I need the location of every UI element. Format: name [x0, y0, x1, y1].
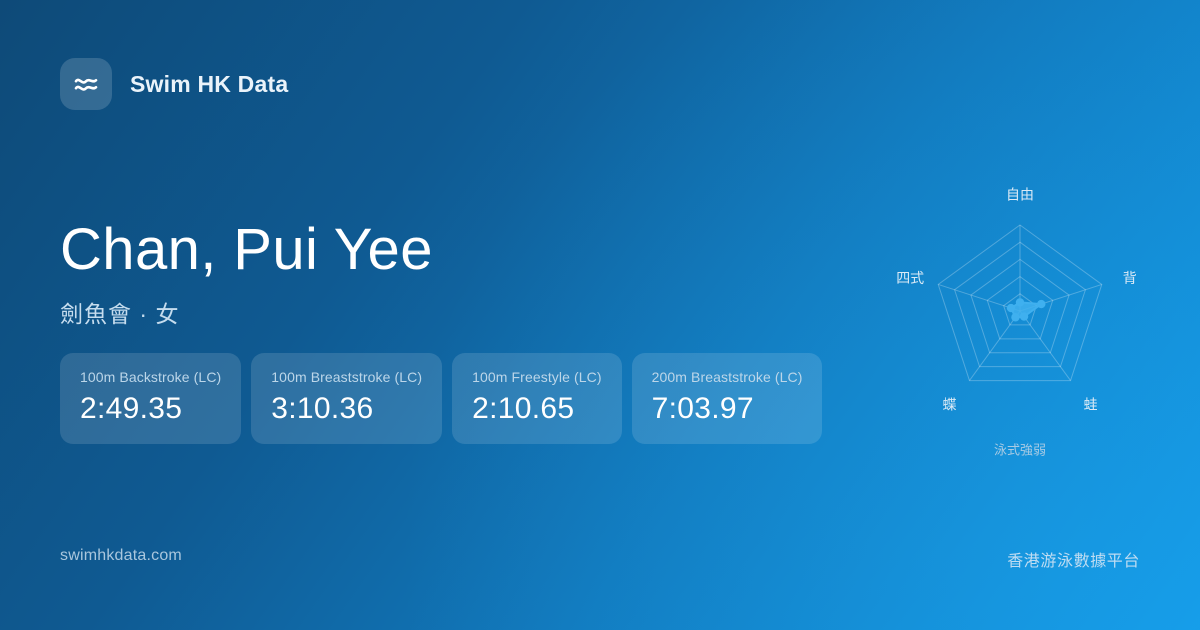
- radar-spoke: [1020, 311, 1071, 381]
- event-card: 100m Freestyle(LC) 2:10.65: [452, 353, 622, 444]
- event-card-time: 2:10.65: [472, 392, 602, 426]
- radar-data-point: [1011, 313, 1019, 321]
- radar-axis-labels: 自由背蛙蝶四式: [896, 187, 1137, 413]
- event-card-course: (LC): [574, 369, 602, 385]
- radar-axis-label-0: 自由: [1006, 187, 1034, 203]
- event-card-time: 2:49.35: [80, 392, 221, 426]
- event-card-time: 7:03.97: [652, 392, 803, 426]
- event-card-event: 100m Breaststroke: [271, 369, 390, 385]
- event-card-time: 3:10.36: [271, 392, 422, 426]
- radar-series: [1007, 298, 1046, 321]
- event-card: 100m Backstroke(LC) 2:49.35: [60, 353, 241, 444]
- event-card-label: 200m Breaststroke(LC): [652, 369, 803, 385]
- event-card: 200m Breaststroke(LC) 7:03.97: [632, 353, 823, 444]
- event-card-course: (LC): [775, 369, 803, 385]
- radar-axis-label-1: 背: [1123, 270, 1137, 286]
- footer-site-url: swimhkdata.com: [60, 547, 182, 565]
- event-card-event: 200m Breaststroke: [652, 369, 771, 385]
- wave-icon: [60, 58, 112, 110]
- radar-caption: 泳式強弱: [994, 442, 1046, 457]
- athlete-meta: 劍魚會 · 女: [60, 295, 433, 329]
- event-card-course: (LC): [194, 369, 222, 385]
- radar-data-point: [1016, 298, 1024, 306]
- radar-axis-label-2: 蛙: [1084, 396, 1098, 412]
- event-card-label: 100m Breaststroke(LC): [271, 369, 422, 385]
- event-card-event: 100m Freestyle: [472, 369, 570, 385]
- stroke-strength-radar-chart: 自由背蛙蝶四式 泳式強弱: [880, 170, 1160, 470]
- og-card-root: Swim HK Data Chan, Pui Yee 劍魚會 · 女 100m …: [0, 0, 1200, 630]
- radar-data-point: [1007, 304, 1015, 312]
- event-card-list: 100m Backstroke(LC) 2:49.35 100m Breasts…: [60, 353, 822, 444]
- event-card-event: 100m Backstroke: [80, 369, 190, 385]
- radar-axis-label-3: 蝶: [943, 396, 957, 412]
- athlete-block: Chan, Pui Yee 劍魚會 · 女: [60, 218, 433, 329]
- brand-name: Swim HK Data: [130, 71, 288, 98]
- event-card-label: 100m Backstroke(LC): [80, 369, 221, 385]
- page-title: Chan, Pui Yee: [60, 218, 433, 283]
- footer-tagline: 香港游泳數據平台: [1007, 547, 1140, 571]
- brand-header: Swim HK Data: [60, 58, 288, 110]
- radar-axis-label-4: 四式: [896, 270, 924, 286]
- event-card: 100m Breaststroke(LC) 3:10.36: [251, 353, 442, 444]
- radar-data-point: [1020, 312, 1028, 320]
- event-card-course: (LC): [395, 369, 423, 385]
- radar-spoke: [969, 311, 1020, 381]
- event-card-label: 100m Freestyle(LC): [472, 369, 602, 385]
- radar-data-point: [1037, 300, 1045, 308]
